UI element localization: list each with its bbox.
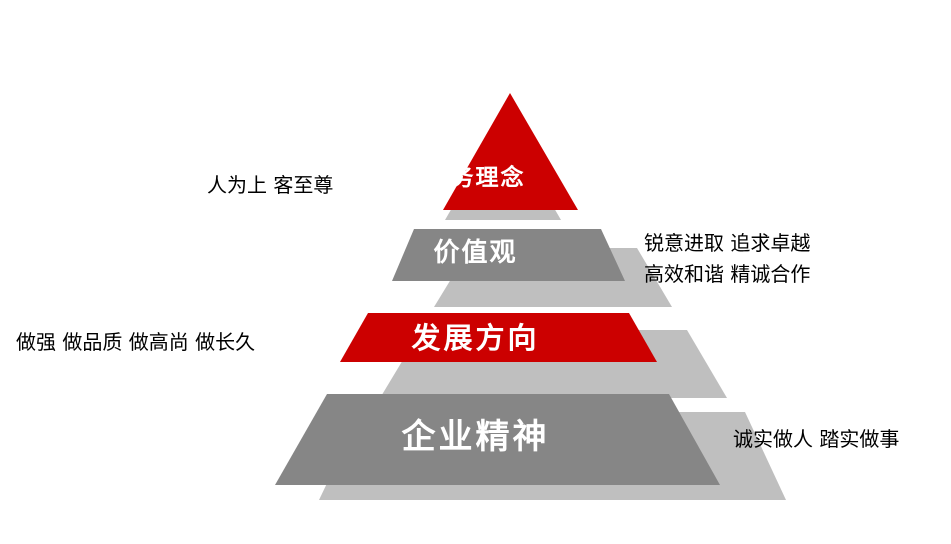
annotation-values: 锐意进取 追求卓越 高效和谐 精诚合作 (644, 228, 810, 290)
annotation-direction: 做强 做品质 做高尚 做长久 (16, 327, 255, 358)
annotation-spirit-line-1: 诚实做人 踏实做事 (733, 424, 899, 455)
pyramid-tier-direction[interactable] (340, 313, 657, 362)
annotation-service-line-1: 人为上 客至尊 (207, 170, 333, 201)
annotation-spirit: 诚实做人 踏实做事 (733, 424, 899, 455)
annotation-service: 人为上 客至尊 (207, 170, 333, 201)
pyramid-tier-values[interactable] (392, 229, 625, 281)
annotation-values-line-1: 锐意进取 追求卓越 (644, 228, 810, 259)
annotation-direction-line-1: 做强 做品质 做高尚 做长久 (16, 327, 255, 358)
pyramid-tier-spirit[interactable] (275, 394, 720, 485)
pyramid-tier-service[interactable] (443, 93, 578, 210)
annotation-values-line-2: 高效和谐 精诚合作 (644, 259, 810, 290)
pyramid-diagram: 服务理念 价值观 发展方向 企业精神 人为上 客至尊 锐意进取 追求卓越 高效和… (0, 0, 951, 544)
